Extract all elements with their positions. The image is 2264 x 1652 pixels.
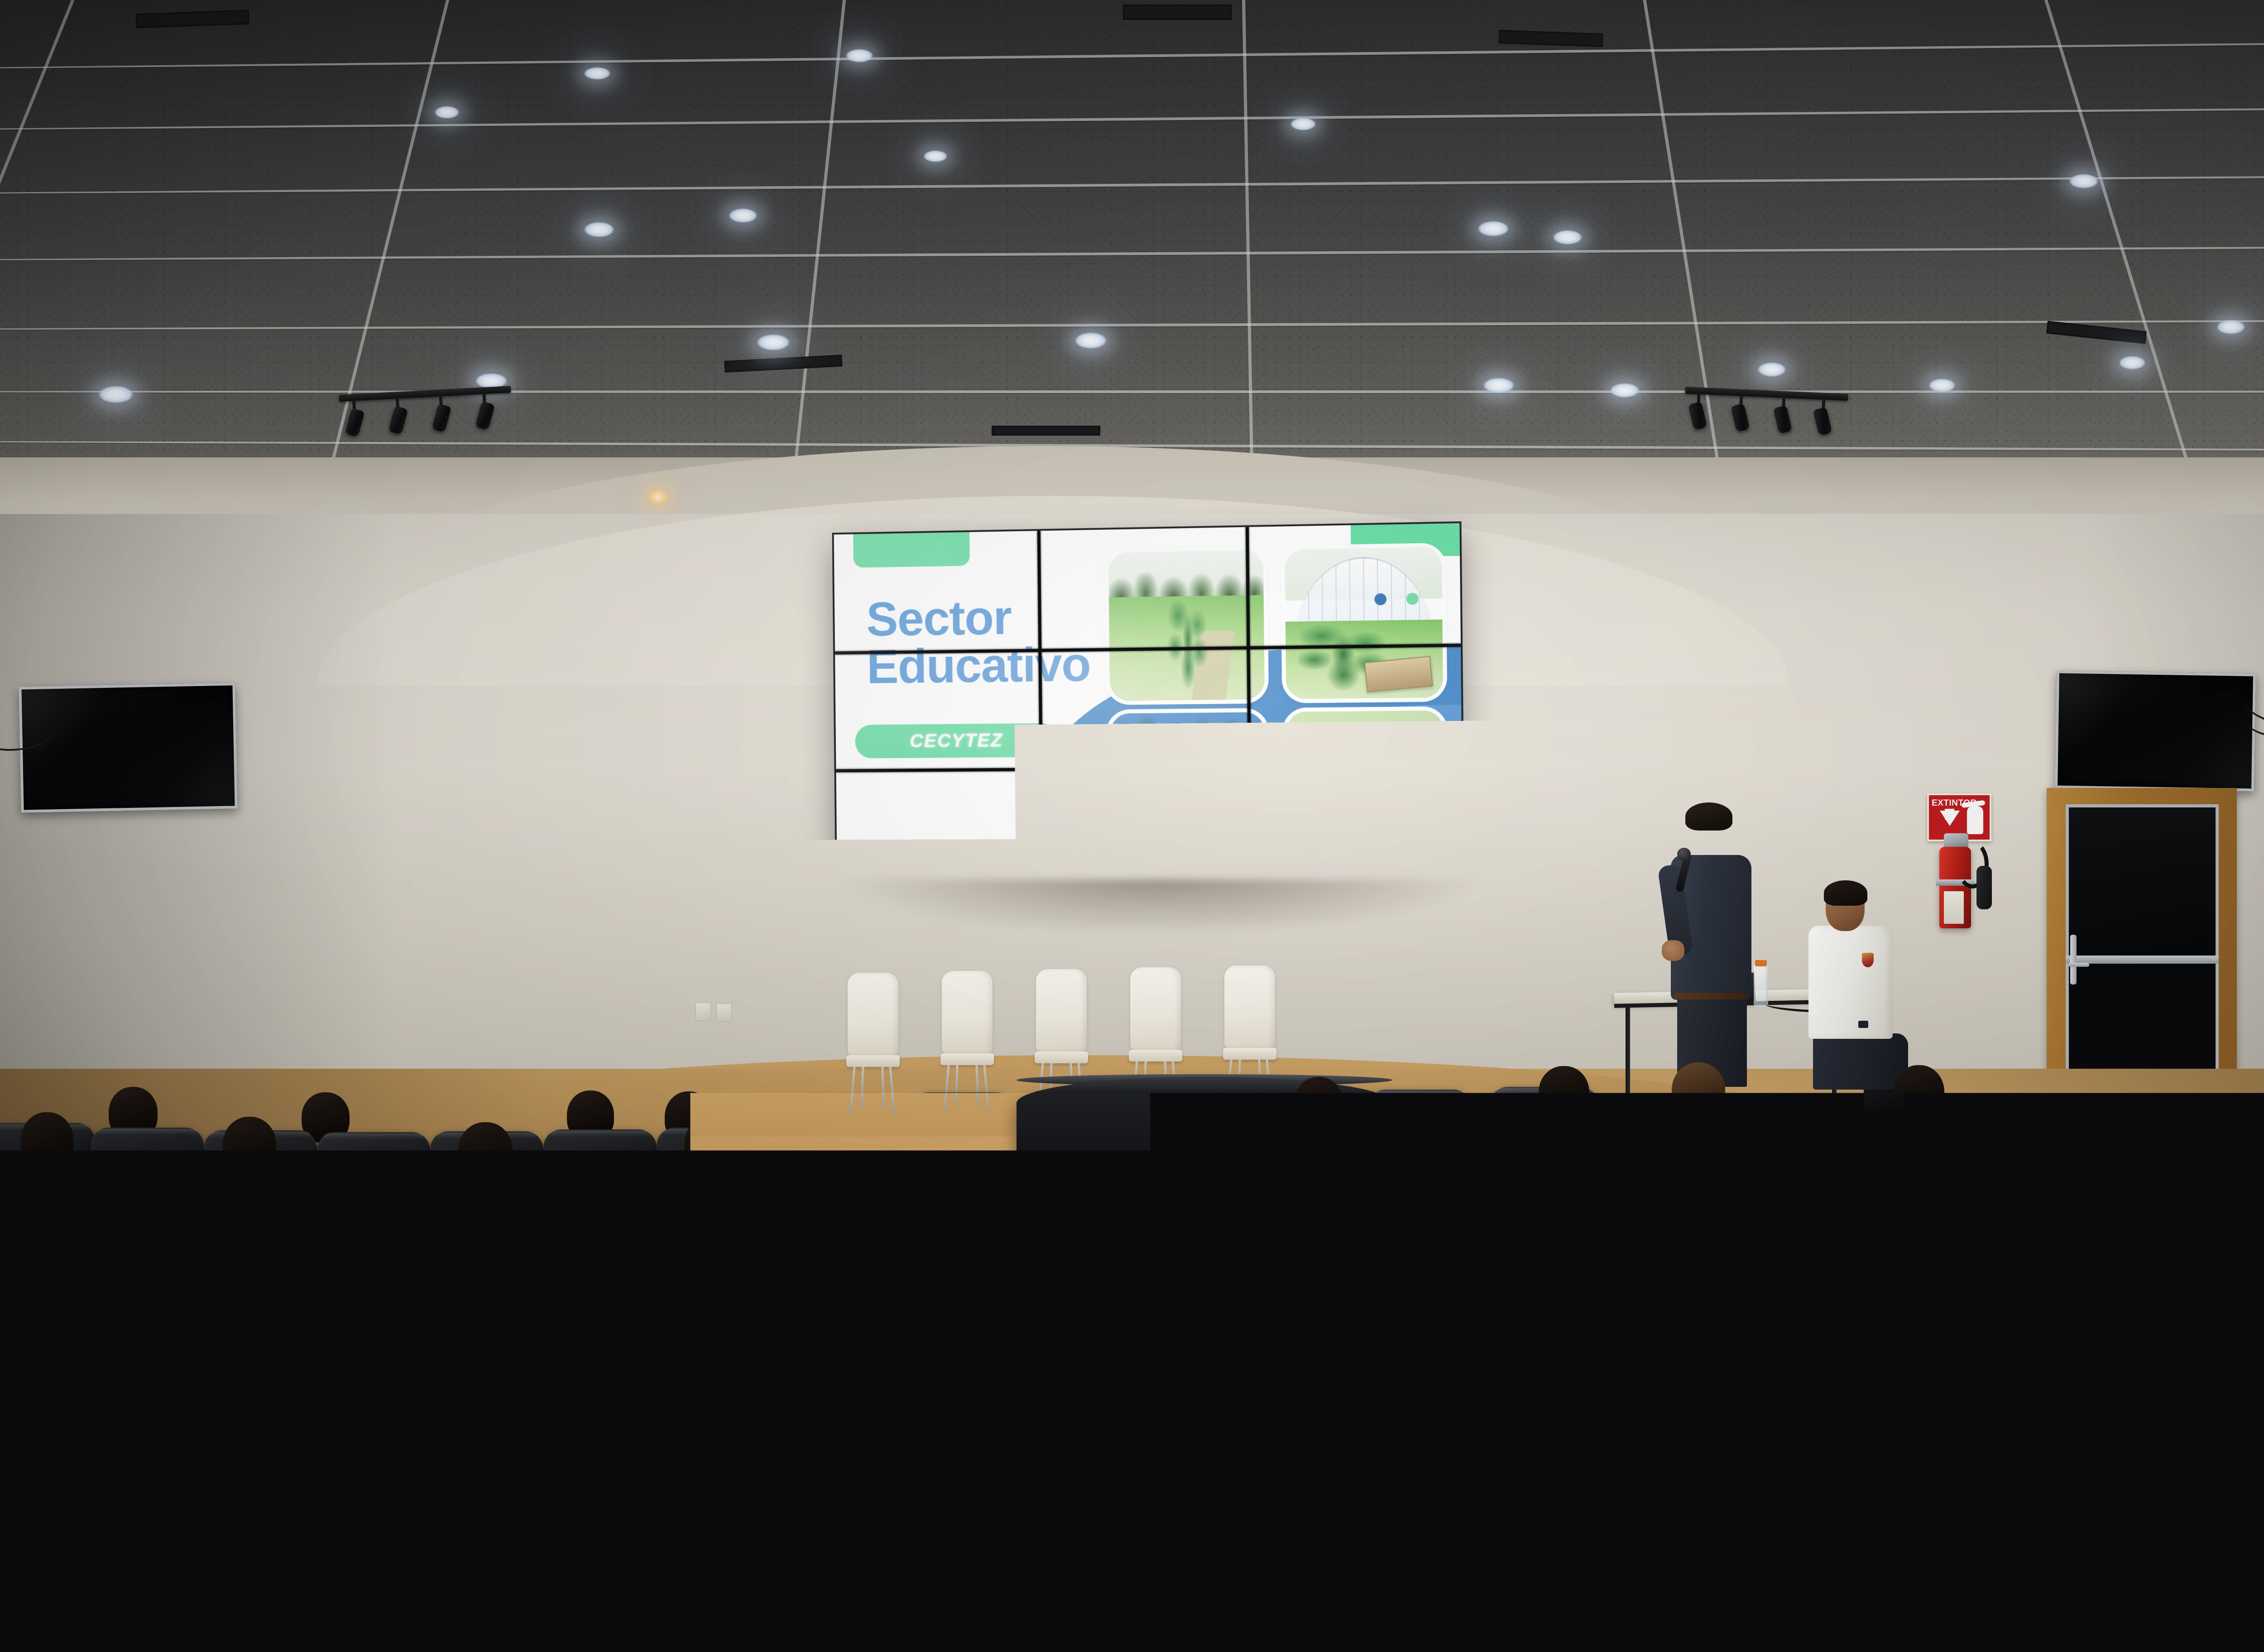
audience-chair[interactable] [1295, 1300, 1431, 1428]
audience-head [457, 1311, 524, 1382]
track-spotlight [1819, 398, 1826, 434]
slide-title-line-1: Sector [866, 592, 1090, 643]
audience-chair[interactable] [1159, 1295, 1295, 1422]
track-spotlight [1737, 394, 1744, 431]
audience-head [1894, 1065, 1944, 1120]
audience-shoulders [254, 1549, 489, 1652]
audience-head [2001, 1108, 2055, 1165]
extinguisher-pictogram-icon [1967, 806, 1983, 834]
audience-chair[interactable] [1485, 1127, 1598, 1224]
audience-chair[interactable] [484, 1476, 697, 1652]
slide-title-line-2: Educativo [867, 640, 1091, 691]
video-wall-shadow [842, 879, 1476, 934]
audience-chair[interactable] [1367, 1090, 1472, 1174]
audience-head [2021, 1202, 2081, 1265]
audience-head [685, 1116, 737, 1172]
audience-head [458, 1122, 513, 1180]
ceiling-downlight [584, 67, 610, 80]
audience-head [865, 1372, 933, 1444]
ceiling-vent [992, 426, 1100, 436]
slide-photo-greenhouse [1285, 547, 1443, 699]
audience-chair[interactable] [1132, 1422, 1295, 1576]
presentation-slide: Sector Educativo CECYTEZ [834, 523, 1463, 887]
audience-chair[interactable] [2239, 1213, 2264, 1330]
audience-chair[interactable] [2187, 1327, 2264, 1466]
audience-cap [226, 1218, 283, 1257]
slide-photo-saplings: 2 [1110, 712, 1266, 867]
right-wall-tv[interactable] [2055, 671, 2256, 792]
ceiling-downlight [584, 222, 614, 237]
audience-chair[interactable] [1300, 1426, 1463, 1582]
audience-head [1889, 1205, 1948, 1267]
audience-head [1520, 1308, 1587, 1378]
ceiling-downlight [1075, 332, 1107, 349]
door-handle[interactable] [2070, 935, 2077, 984]
seated-presenter-shirt [1808, 926, 1893, 1039]
chair-armrest [281, 1429, 304, 1441]
chair-armrest [566, 1435, 590, 1446]
ceiling-downlight [729, 208, 757, 223]
audience-head [1770, 1109, 1824, 1167]
audience-head [21, 1112, 73, 1168]
audience-chair[interactable] [609, 1219, 740, 1338]
left-wall-tv[interactable] [19, 682, 237, 812]
audience-chair[interactable] [1476, 1467, 1689, 1652]
ceiling-downlight [1929, 379, 1955, 392]
audience-head [62, 1201, 120, 1263]
auditorium-photograph: Sector Educativo CECYTEZ [0, 0, 2264, 1652]
presenter-hair [1685, 802, 1732, 831]
ceiling-downlight [1483, 378, 1514, 393]
audience-cap-dark [2077, 1200, 2213, 1277]
wall-socket [716, 1004, 732, 1022]
eyeglasses [2073, 1178, 2098, 1190]
ceiling-downlight [1553, 230, 1582, 245]
audience-head [306, 1310, 374, 1381]
audience-head [26, 1303, 92, 1373]
audience-head [910, 1171, 972, 1235]
audience-head [223, 1117, 276, 1174]
audience-head [1664, 1204, 1724, 1267]
track-spotlight [1694, 393, 1701, 429]
ceiling [0, 0, 2264, 512]
extinguisher-label-tag [1944, 891, 1964, 924]
ceiling-downlight [846, 49, 873, 62]
audience-head [547, 1204, 605, 1265]
track-spotlight [1780, 396, 1786, 432]
audience-head [1539, 1066, 1589, 1120]
audience-chair[interactable] [2115, 1465, 2264, 1652]
ceiling-downlight [1290, 118, 1316, 130]
ceiling-downlight [435, 106, 459, 119]
ceiling-vent [1123, 5, 1232, 20]
audience-chair[interactable] [95, 1329, 249, 1472]
slide-title: Sector Educativo [866, 592, 1091, 690]
presenter-hand [1662, 940, 1684, 961]
audience-head [1672, 1062, 1725, 1119]
audience-head [1294, 1077, 1343, 1130]
ceiling-downlight [2119, 356, 2145, 370]
down-arrow-icon [1940, 811, 1960, 826]
ceiling-downlight [1478, 221, 1509, 236]
shirt-emblem-icon [1862, 953, 1874, 967]
audience-chair[interactable] [543, 1332, 697, 1475]
audience-chair[interactable] [0, 1467, 136, 1652]
chair-armrest [1327, 1522, 1350, 1533]
chair-armrest [1123, 1521, 1146, 1532]
audience-head [1805, 1311, 1873, 1383]
chair-armrest [1508, 1518, 1531, 1530]
extinguisher-nozzle [1976, 866, 1992, 909]
slide-photo-cactus-field [1108, 550, 1264, 701]
soffit-spotlight [647, 488, 669, 506]
audience-head [1861, 1425, 1988, 1556]
door-push-bar[interactable] [2068, 963, 2089, 967]
audience-head [1961, 1309, 2028, 1379]
wall-socket [696, 1003, 711, 1021]
ceiling-downlight [757, 334, 790, 351]
audience-head [770, 1199, 827, 1260]
slide-photo-orchard [1286, 711, 1445, 867]
audience-shoulders [824, 1494, 978, 1585]
microphone-head-icon [1677, 848, 1691, 860]
audience-head [397, 1207, 456, 1271]
audience-chair[interactable] [962, 1421, 1129, 1577]
slide-badge-label: CECYTEZ [910, 730, 1003, 752]
ceiling-grid-rail [0, 390, 2264, 393]
wristwatch [1858, 1021, 1868, 1028]
slide-badge: CECYTEZ [855, 723, 1058, 758]
audience-chair[interactable] [797, 1096, 901, 1182]
ceiling-downlight [1610, 383, 1639, 398]
door-crossbar [2066, 956, 2219, 964]
slide-green-tab [854, 532, 970, 568]
ceiling-downlight [99, 386, 133, 403]
ceiling-downlight [2069, 174, 2098, 188]
audience-chair[interactable] [954, 1292, 1094, 1425]
ceiling-downlight [1758, 362, 1786, 377]
audience-seating: white baseball cap [0, 1042, 2264, 1652]
video-wall[interactable]: Sector Educativo CECYTEZ [834, 523, 1463, 887]
ceiling-downlight [924, 150, 947, 162]
audience-chair[interactable] [2038, 1331, 2192, 1472]
slide-dot-blue-icon [1374, 593, 1386, 605]
chair-armrest [937, 1516, 961, 1528]
audience-chair[interactable] [1100, 1571, 1295, 1652]
audience-head [743, 1304, 809, 1373]
audience-chair[interactable] [910, 1092, 1014, 1178]
seated-presenter-hair [1824, 880, 1867, 906]
presenter-belt [1674, 993, 1747, 999]
ceiling-downlight [2217, 320, 2245, 334]
